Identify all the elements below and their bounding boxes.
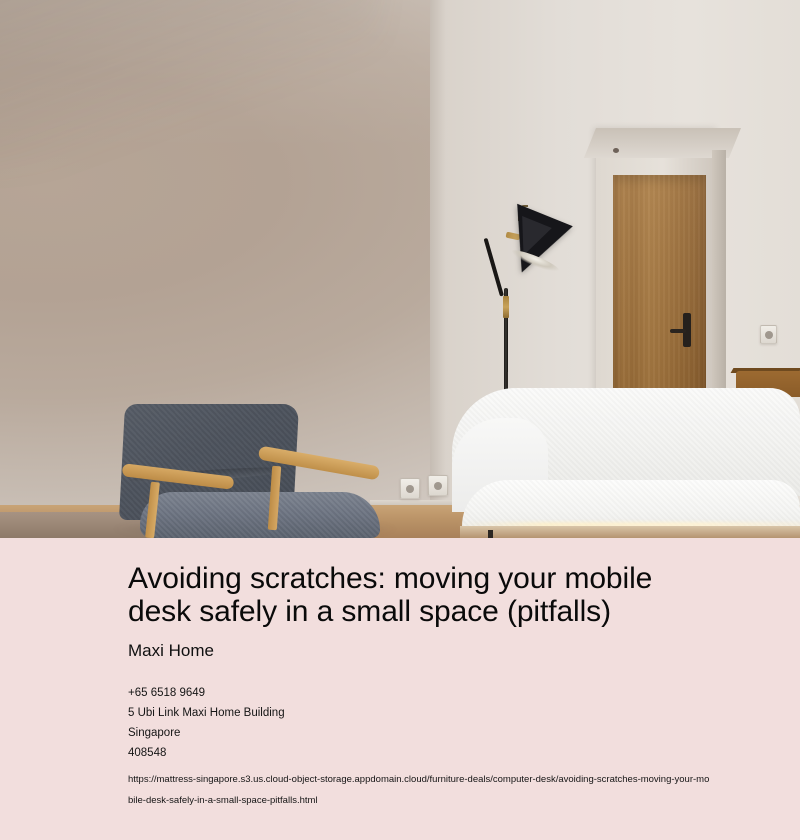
wall-corner-seam	[430, 0, 446, 538]
info-panel-content: Avoiding scratches: moving your mobile d…	[128, 538, 800, 811]
door-handle-icon	[670, 329, 686, 333]
page-url[interactable]: https://mattress-singapore.s3.us.cloud-o…	[128, 769, 800, 811]
grey-armchair	[122, 404, 380, 538]
armchair-seat	[140, 492, 380, 538]
page-root: Avoiding scratches: moving your mobile d…	[0, 0, 800, 840]
contact-block: +65 6518 9649 5 Ubi Link Maxi Home Build…	[128, 683, 800, 763]
page-title: Avoiding scratches: moving your mobile d…	[128, 562, 708, 628]
contact-city: Singapore	[128, 723, 800, 743]
wall-switch-icon	[760, 325, 777, 344]
lamp-brass-collar	[503, 296, 509, 318]
page-url-line-1: https://mattress-singapore.s3.us.cloud-o…	[128, 769, 800, 790]
door-hinge-icon	[613, 148, 619, 153]
info-panel: Avoiding scratches: moving your mobile d…	[0, 538, 800, 840]
page-url-line-2: bile-desk-safely-in-a-small-space-pitfal…	[128, 790, 800, 811]
hero-room-photo	[0, 0, 800, 538]
wall-socket-icon	[400, 478, 420, 499]
sofa-leg	[488, 530, 493, 538]
ceiling-shadow	[0, 0, 380, 170]
wall-socket-icon	[428, 475, 448, 496]
contact-phone[interactable]: +65 6518 9649	[128, 683, 800, 703]
contact-address: 5 Ubi Link Maxi Home Building	[128, 703, 800, 723]
white-sofa	[452, 388, 800, 538]
brand-name: Maxi Home	[128, 641, 800, 661]
contact-postal-code: 408548	[128, 743, 800, 763]
sofa-base-plinth	[460, 526, 800, 538]
